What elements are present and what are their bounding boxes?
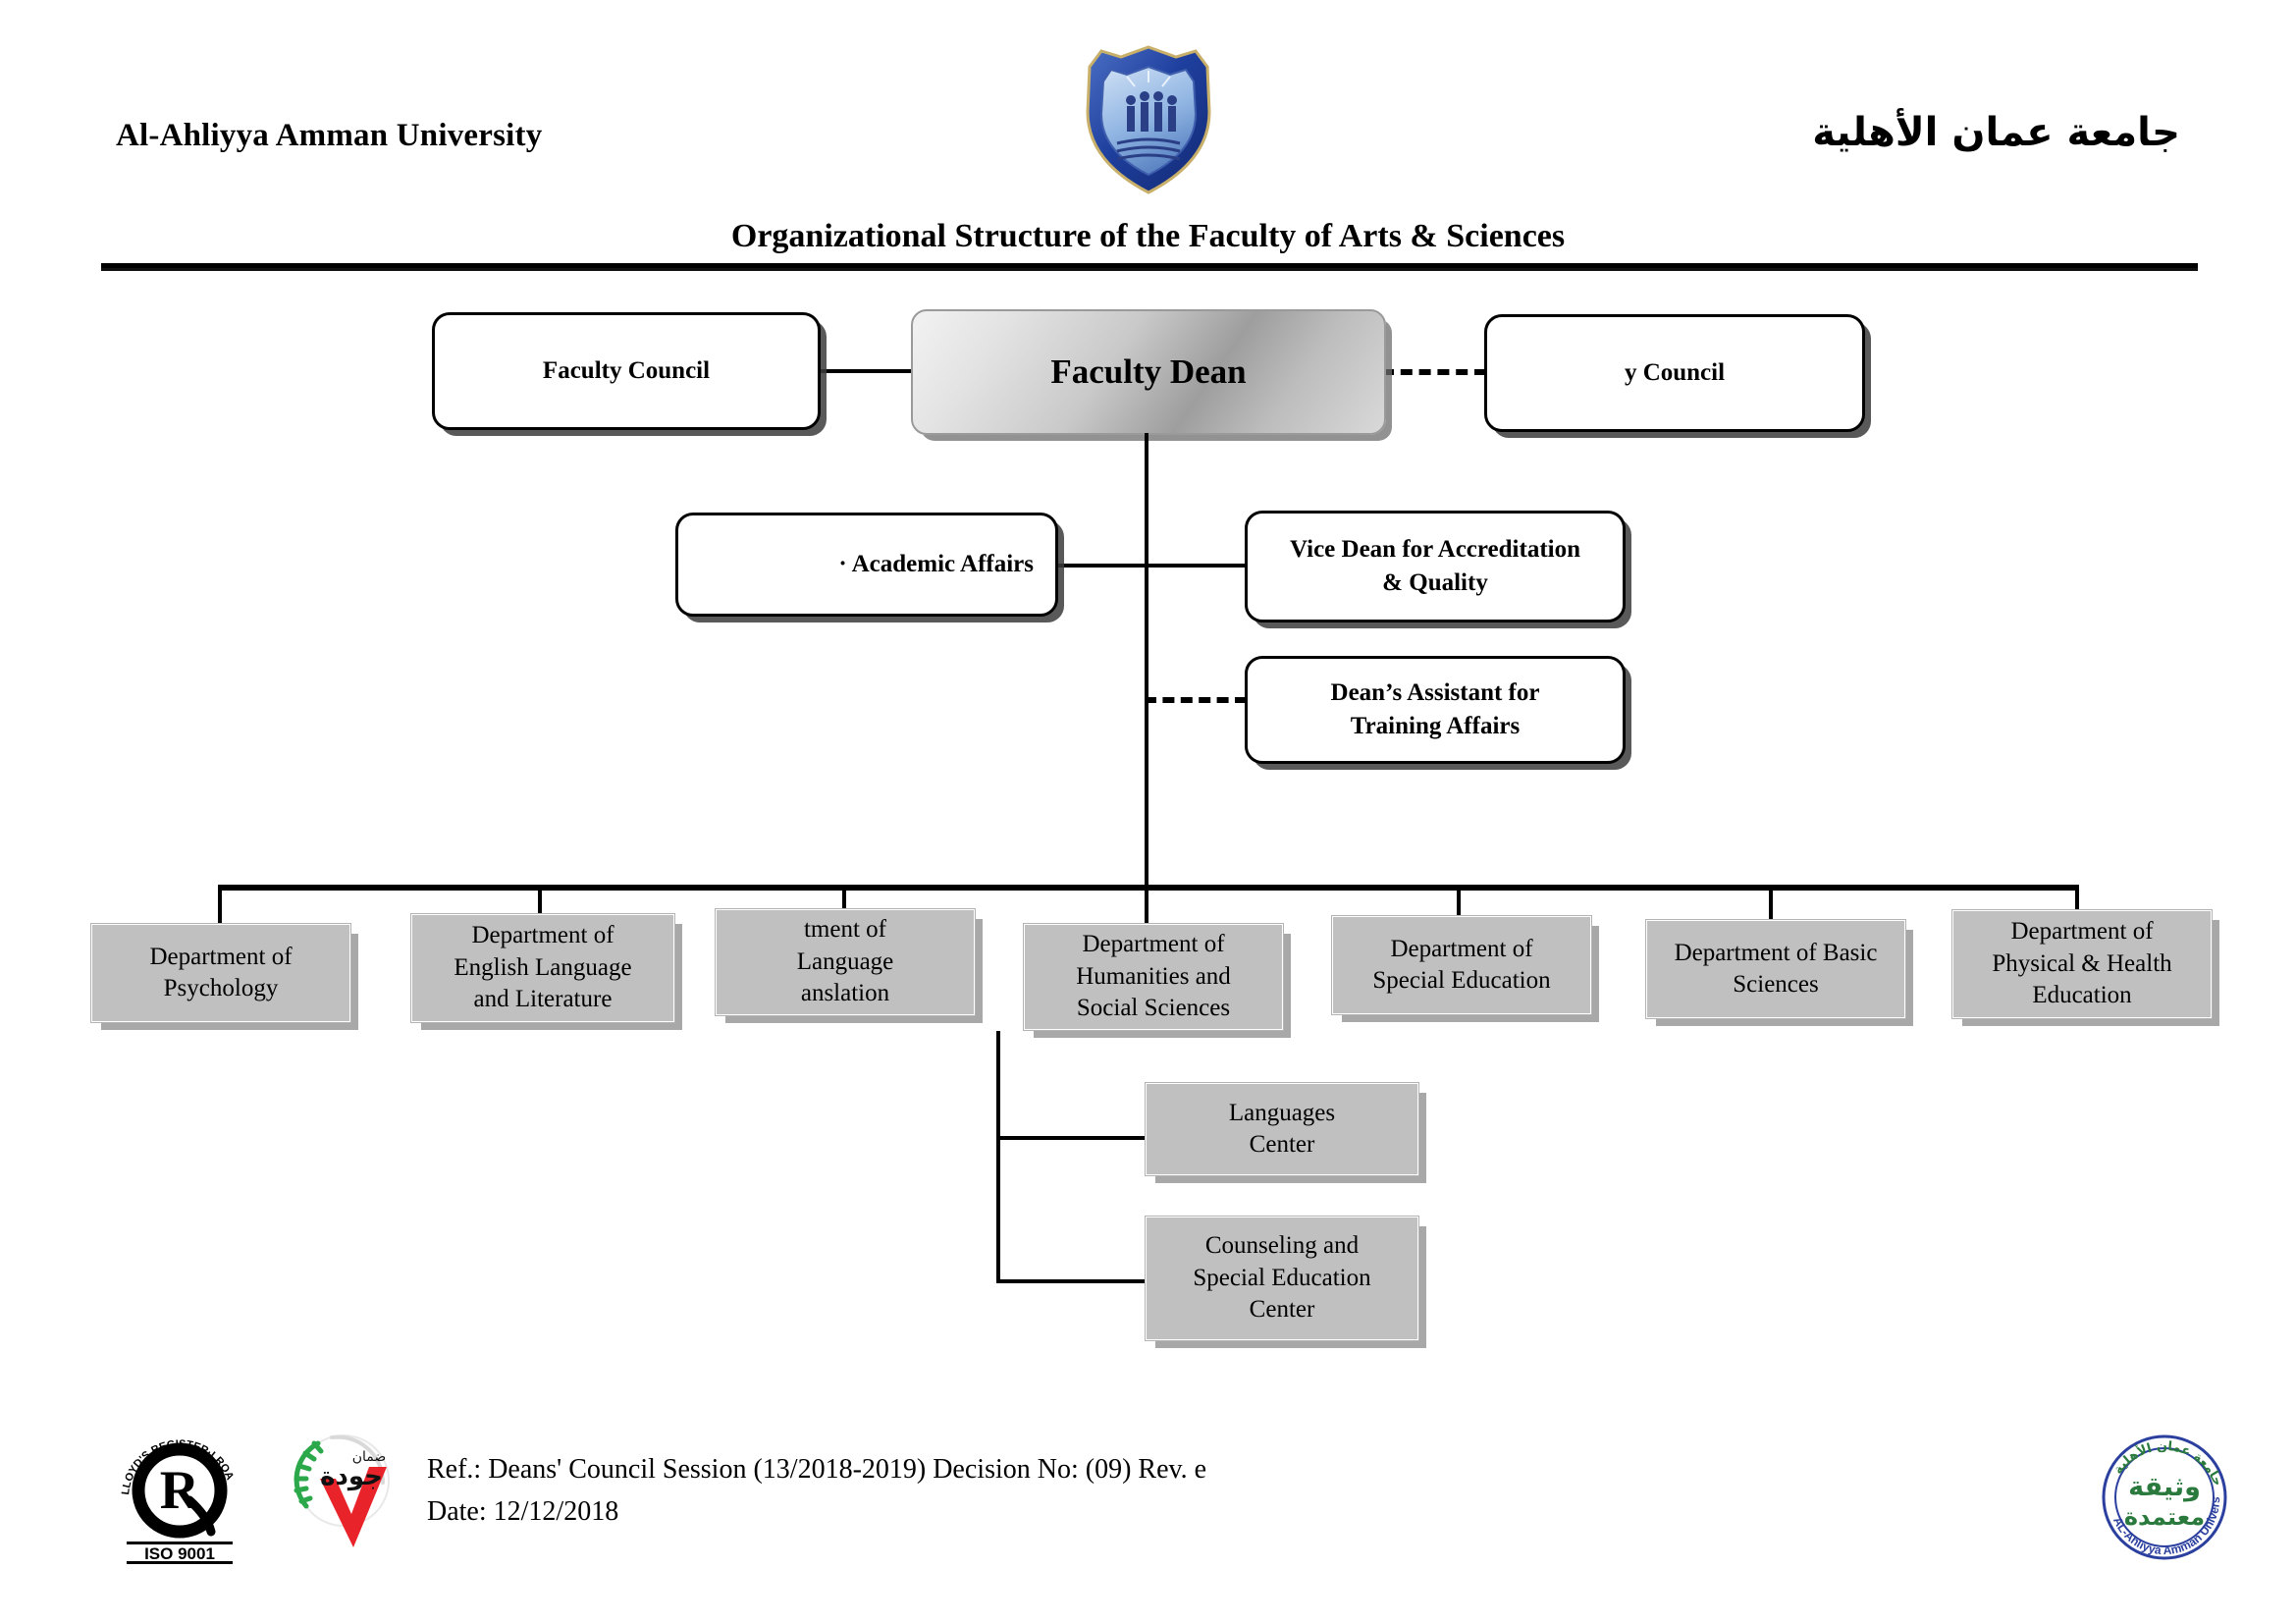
deans-assistant-training-box[interactable]: Dean’s Assistant for Training Affairs — [1245, 656, 1626, 764]
dept-7-line3: Education — [1992, 980, 2171, 1012]
drop-line-dept-3 — [842, 885, 846, 911]
center-1-line2: Center — [1229, 1129, 1335, 1162]
connector-spine-to-deans-assistant — [1145, 697, 1247, 703]
stamp-arabic-line1: وثيقة — [2128, 1472, 2201, 1502]
footer-date-line: Date: 12/12/2018 — [427, 1490, 1206, 1533]
dept-4-line3: Social Sciences — [1076, 993, 1231, 1025]
dept-7-line2: Physical & Health — [1992, 948, 2171, 981]
university-shield-logo — [1070, 41, 1227, 198]
dept-5-line1: Department of — [1372, 934, 1550, 966]
faculty-dean-label: Faculty Dean — [1050, 352, 1246, 392]
dept-1-line1: Department of — [149, 942, 292, 974]
academic-affairs-label: · Academic Affairs — [838, 548, 1034, 581]
dept-4-line1: Department of — [1076, 929, 1231, 961]
right-council-label: y Council — [1625, 356, 1725, 390]
page-title: Organizational Structure of the Faculty … — [0, 218, 2296, 255]
center-2-line2: Special Education — [1193, 1263, 1370, 1295]
center-2-line3: Center — [1193, 1294, 1370, 1326]
lrqa-iso-9001-icon: LLOYD'S REGISTER·LRQA R ISO 9001 — [113, 1414, 245, 1566]
lrqa-iso-text: ISO 9001 — [144, 1544, 215, 1563]
vice-dean-accreditation-quality-box[interactable]: Vice Dean for Accreditation & Quality — [1245, 511, 1626, 622]
department-box-special-education[interactable]: Department of Special Education — [1331, 915, 1592, 1015]
stamp-arabic-line2: معتمدة — [2124, 1503, 2205, 1531]
jordan-quality-assurance-seal-icon: ضمان جودة — [285, 1424, 402, 1551]
dept-2-line2: English Language — [454, 952, 631, 985]
certified-document-stamp-icon: جامعة عمان الأهلية AL-Ahliyya Amman Univ… — [2086, 1419, 2243, 1576]
dept-3-line3: anslation — [797, 978, 894, 1010]
department-box-language-translation[interactable]: tment of Language anslation — [715, 908, 976, 1016]
department-box-english-language[interactable]: Department of English Language and Liter… — [410, 913, 675, 1023]
vice-dean-label-line2: & Quality — [1290, 567, 1580, 600]
faculty-council-label: Faculty Council — [543, 354, 710, 388]
drop-line-dept-6 — [1769, 885, 1773, 920]
dept-2-line1: Department of — [454, 920, 631, 952]
center-2-line1: Counseling and — [1193, 1230, 1370, 1263]
dept-6-line2: Sciences — [1675, 969, 1878, 1001]
vice-dean-label-line1: Vice Dean for Accreditation — [1290, 533, 1580, 567]
center-1-line1: Languages — [1229, 1098, 1335, 1130]
connector-academic-affairs-to-spine — [1055, 564, 1147, 568]
connector-to-counseling-center — [996, 1279, 1145, 1283]
dept-2-line3: and Literature — [454, 984, 631, 1016]
centers-branch-vertical — [996, 1031, 1000, 1283]
connector-dean-to-right-council — [1382, 369, 1486, 375]
drop-line-dept-5 — [1457, 885, 1461, 917]
right-council-box[interactable]: y Council — [1484, 314, 1865, 432]
header-divider — [101, 263, 2198, 268]
footer-ref-line: Ref.: Deans' Council Session (13/2018-20… — [427, 1448, 1206, 1490]
drop-line-dept-1 — [218, 885, 222, 926]
dept-5-line2: Special Education — [1372, 965, 1550, 998]
svg-text:R: R — [160, 1460, 200, 1521]
drop-line-dept-7 — [2075, 885, 2079, 911]
dept-4-line2: Humanities and — [1076, 961, 1231, 994]
counseling-special-education-center-box[interactable]: Counseling and Special Education Center — [1145, 1216, 1419, 1341]
drop-line-dept-4 — [1145, 885, 1148, 926]
department-box-physical-health-education[interactable]: Department of Physical & Health Educatio… — [1951, 909, 2213, 1019]
seal-arabic-main: جودة — [320, 1462, 383, 1491]
university-name-arabic: جامعة عمان الأهلية — [1812, 110, 2180, 155]
connector-council-to-dean — [817, 369, 915, 373]
footer-reference: Ref.: Deans' Council Session (13/2018-20… — [427, 1448, 1206, 1534]
connector-to-languages-center — [996, 1136, 1145, 1140]
spine-dean-down — [1145, 433, 1148, 888]
department-box-humanities-social-sciences[interactable]: Department of Humanities and Social Scie… — [1023, 923, 1284, 1031]
languages-center-box[interactable]: Languages Center — [1145, 1082, 1419, 1176]
dept-3-line1: tment of — [797, 914, 894, 947]
dept-1-line2: Psychology — [149, 973, 292, 1005]
deans-assistant-label-line1: Dean’s Assistant for — [1331, 676, 1540, 710]
department-bus-line — [218, 885, 2079, 891]
deans-assistant-label-line2: Training Affairs — [1331, 710, 1540, 743]
academic-affairs-box[interactable]: · Academic Affairs — [675, 513, 1058, 617]
faculty-dean-box[interactable]: Faculty Dean — [911, 309, 1386, 435]
department-box-psychology[interactable]: Department of Psychology — [90, 923, 351, 1023]
connector-spine-to-vice-dean — [1145, 564, 1247, 568]
dept-7-line1: Department of — [1992, 916, 2171, 948]
department-box-basic-sciences[interactable]: Department of Basic Sciences — [1645, 919, 1906, 1019]
faculty-council-box[interactable]: Faculty Council — [432, 312, 821, 430]
dept-6-line1: Department of Basic — [1675, 938, 1878, 970]
university-name-english: Al-Ahliyya Amman University — [116, 118, 542, 154]
dept-3-line2: Language — [797, 947, 894, 979]
